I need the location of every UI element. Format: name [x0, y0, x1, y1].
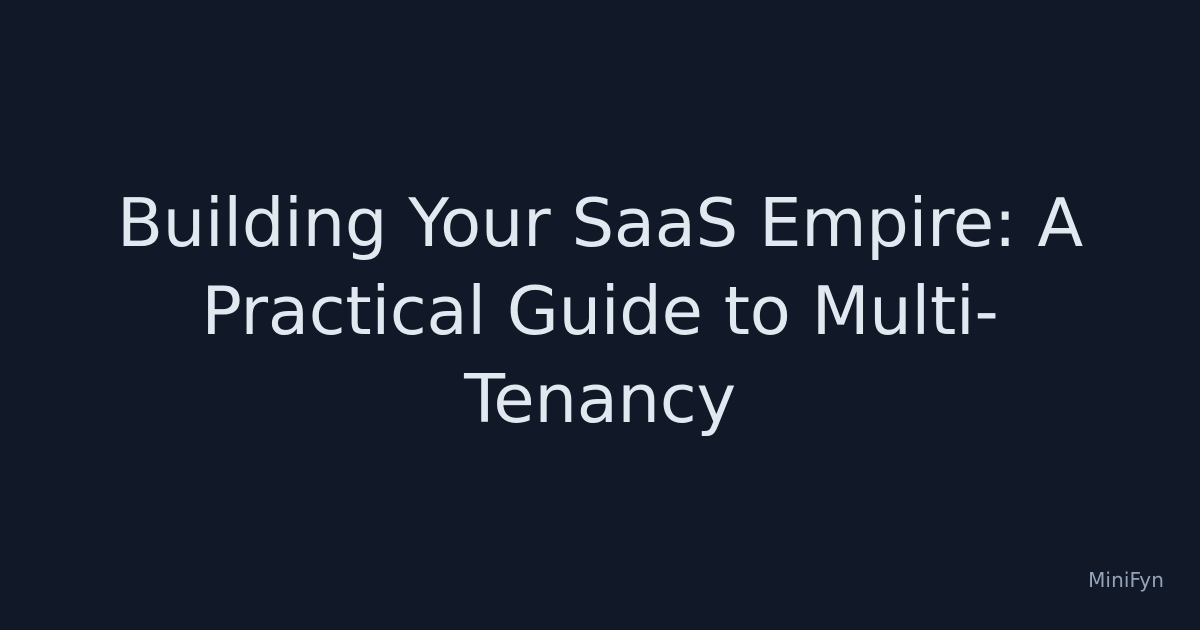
brand-name: MiniFyn: [1088, 570, 1164, 590]
brand-watermark: MiniFyn: [1088, 570, 1164, 590]
og-preview-card: Building Your SaaS Empire: A Practical G…: [0, 0, 1200, 630]
page-title: Building Your SaaS Empire: A Practical G…: [100, 179, 1100, 443]
title-block: Building Your SaaS Empire: A Practical G…: [50, 179, 1150, 443]
